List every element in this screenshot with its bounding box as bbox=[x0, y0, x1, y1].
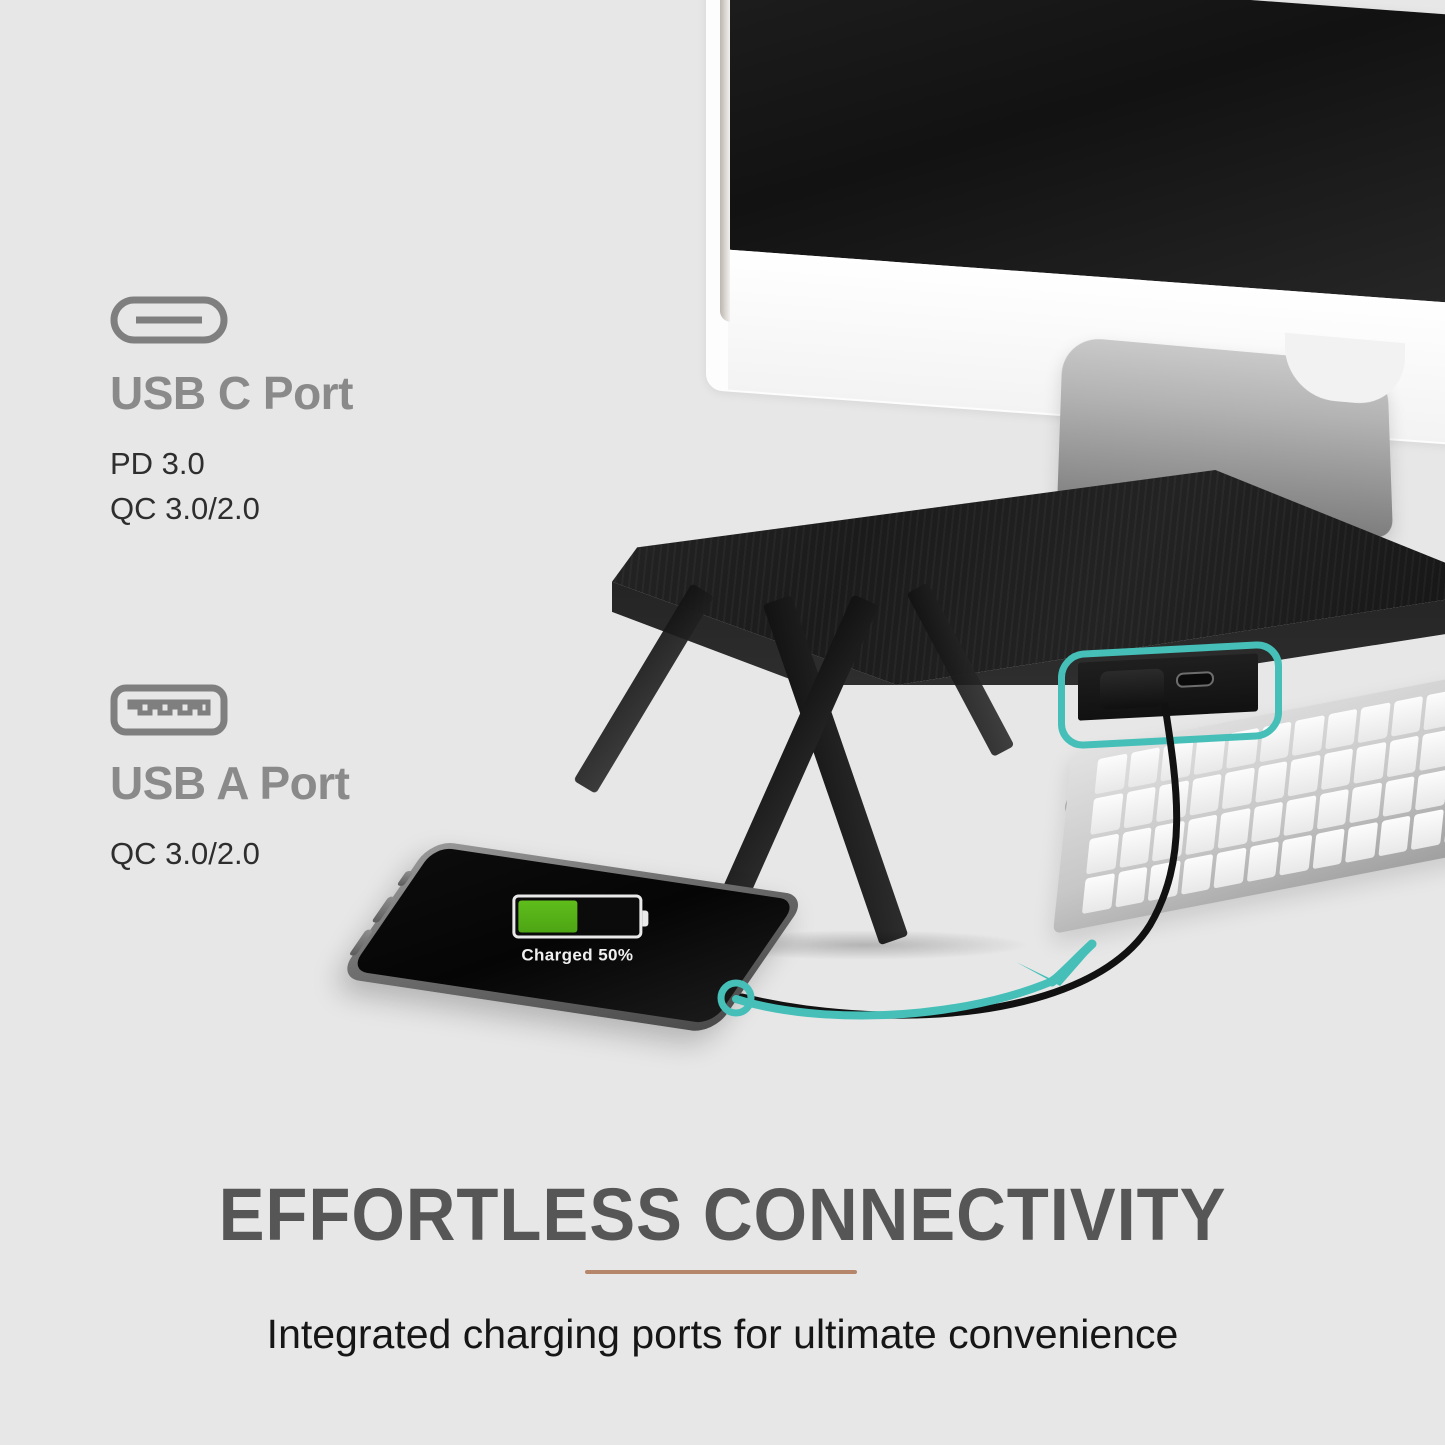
usb-c-port-icon bbox=[110, 292, 353, 348]
infographic-canvas: Charged 50% USB C Port PD 3.0 bbox=[0, 0, 1445, 1445]
feature-spec-line: QC 3.0/2.0 bbox=[110, 832, 350, 877]
feature-usb-a: USB A Port QC 3.0/2.0 bbox=[110, 682, 350, 877]
feature-title: USB C Port bbox=[110, 370, 353, 416]
feature-spec-line: QC 3.0/2.0 bbox=[110, 487, 353, 532]
cable-teal-trace bbox=[736, 980, 1055, 1016]
headline: EFFORTLESS CONNECTIVITY bbox=[51, 1178, 1395, 1252]
battery-status-label: Charged 50% bbox=[512, 945, 642, 965]
feature-title: USB A Port bbox=[110, 760, 350, 806]
port-highlight-outline bbox=[1058, 640, 1282, 750]
feature-usb-c: USB C Port PD 3.0 QC 3.0/2.0 bbox=[110, 292, 353, 532]
product-photo-scene: Charged 50% bbox=[0, 0, 1445, 1120]
feature-spec-line: PD 3.0 bbox=[110, 442, 353, 487]
usb-a-port-icon bbox=[110, 682, 350, 738]
battery-icon bbox=[512, 894, 642, 938]
monitor-left-bezel bbox=[720, 0, 730, 322]
teal-arrow-shaft bbox=[1052, 944, 1092, 982]
battery-fill bbox=[518, 900, 577, 932]
subtitle: Integrated charging ports for ultimate c… bbox=[0, 1310, 1445, 1359]
charging-indicator: Charged 50% bbox=[512, 894, 642, 965]
monitor-stand-shelf bbox=[612, 470, 1445, 685]
headline-divider bbox=[585, 1270, 857, 1274]
